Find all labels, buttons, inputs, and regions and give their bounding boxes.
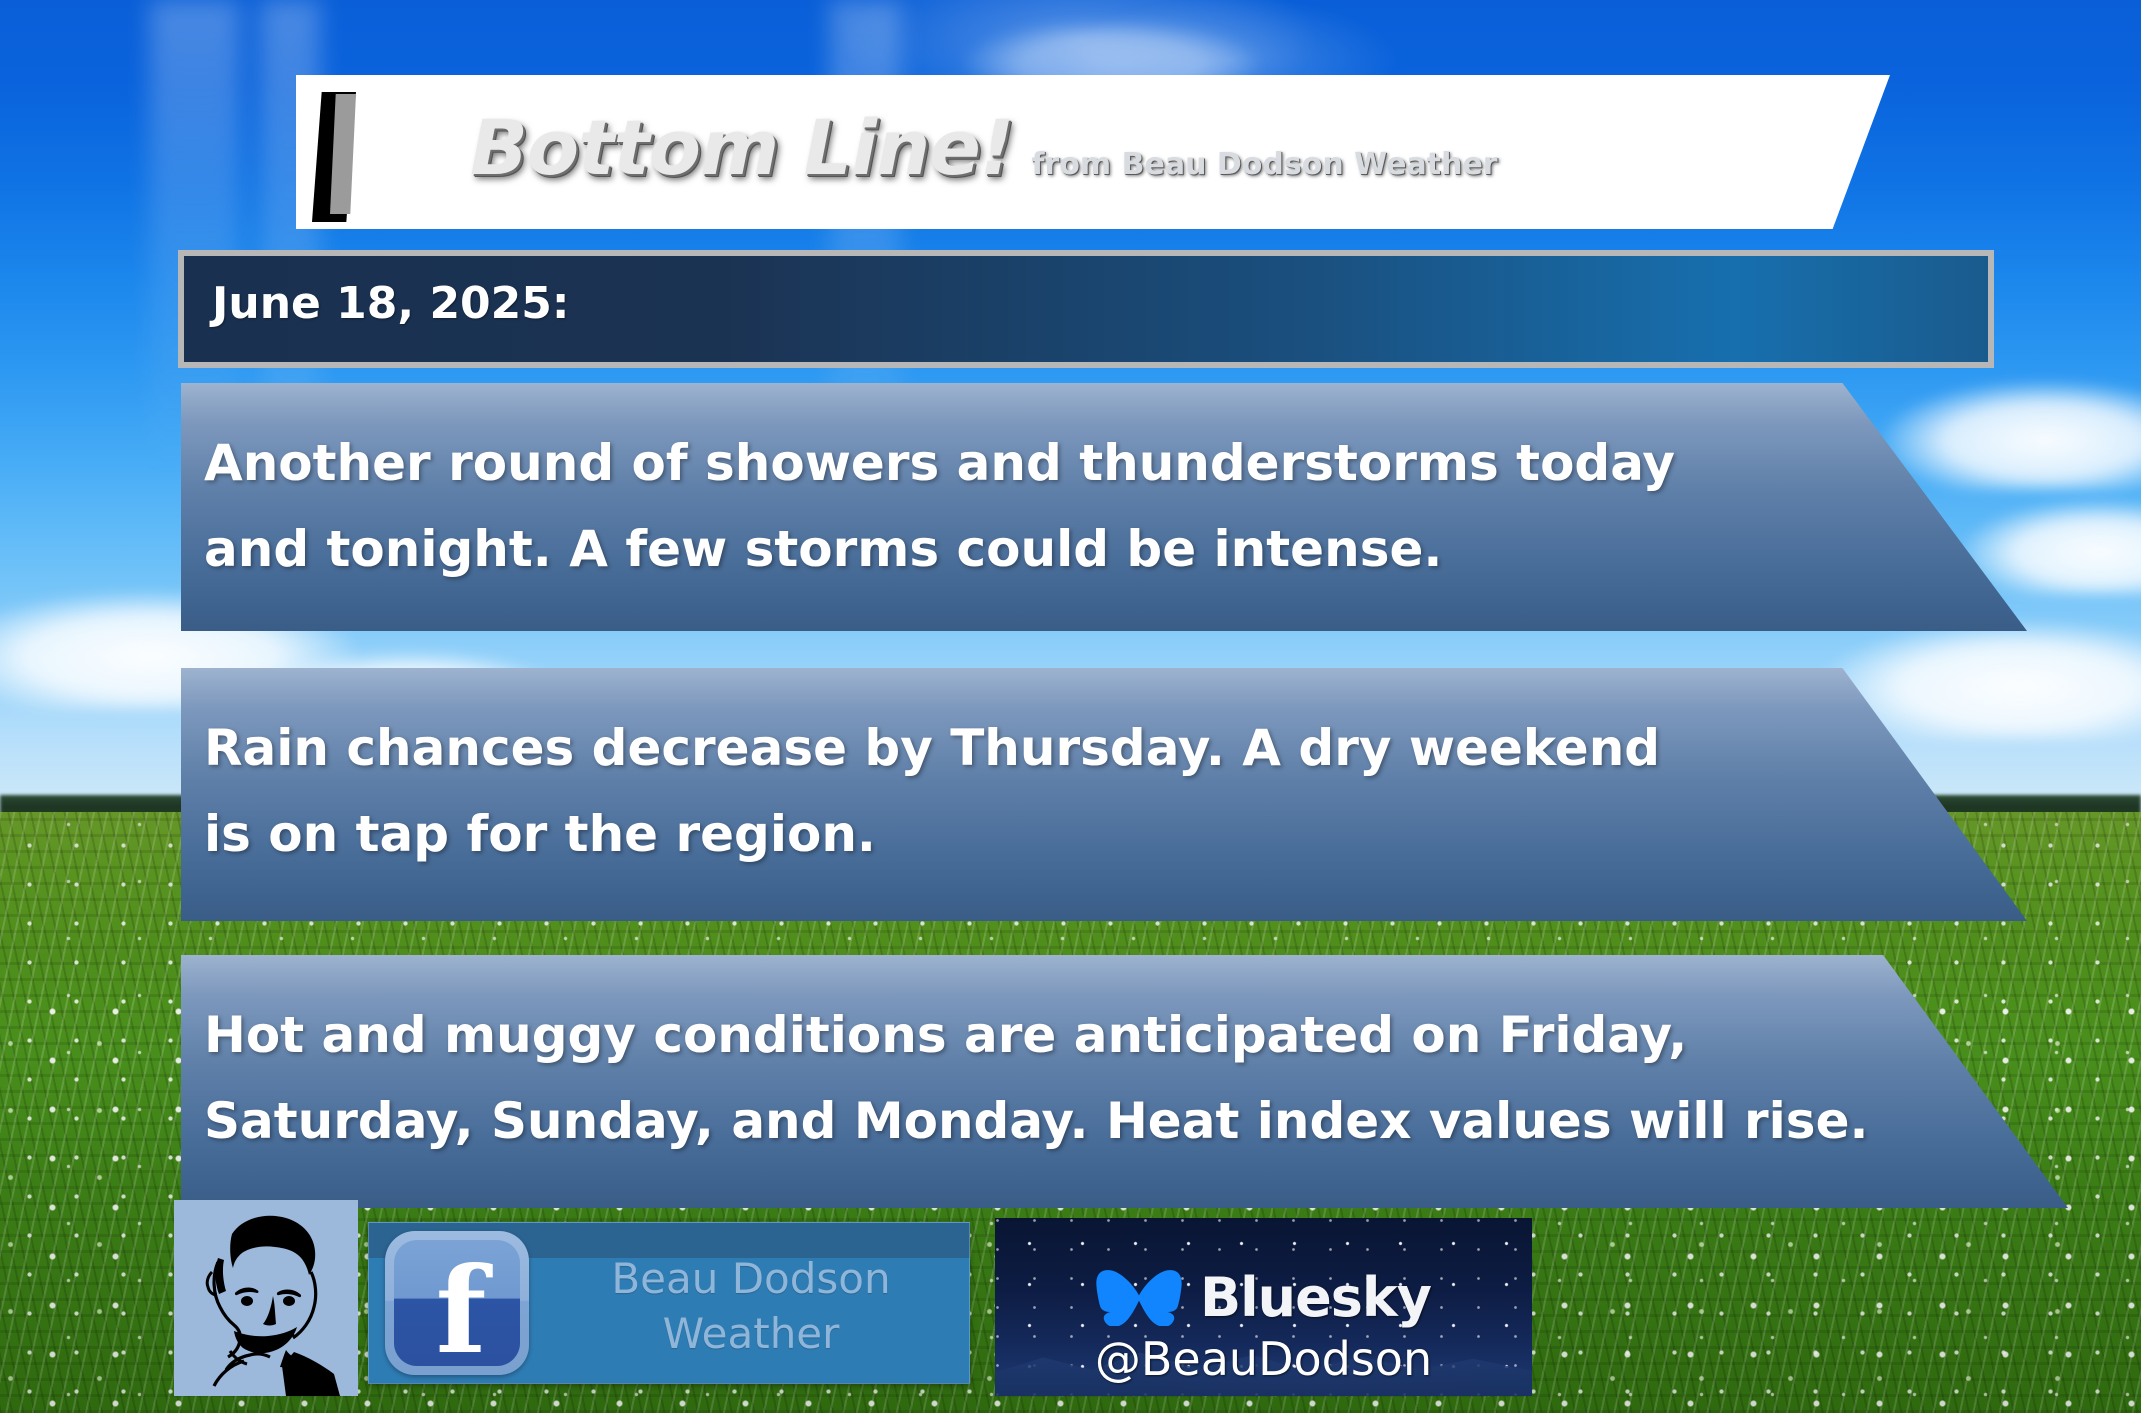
bottom-line-weather-graphic: Bottom Line! from Beau Dodson Weather Ju… <box>0 0 2141 1413</box>
bluesky-badge[interactable]: Bluesky @BeauDodson <box>995 1218 1532 1396</box>
facebook-icon-inner: f <box>394 1240 520 1366</box>
message-text-3: Hot and muggy conditions are anticipated… <box>204 992 1944 1164</box>
portrait-icon <box>174 1200 358 1396</box>
header-subtitle: from Beau Dodson Weather <box>1031 150 1497 180</box>
bluesky-name: Bluesky <box>1200 1271 1431 1325</box>
date-label: June 18, 2025: <box>212 278 570 329</box>
avatar <box>174 1200 358 1396</box>
bluesky-handle: @BeauDodson <box>995 1336 1532 1382</box>
facebook-icon[interactable]: f <box>385 1231 529 1375</box>
facebook-label: Beau Dodson Weather <box>541 1251 961 1361</box>
bluesky-butterfly-icon <box>1096 1270 1182 1326</box>
header-text: Bottom Line! from Beau Dodson Weather <box>470 110 1770 220</box>
bluesky-logo-row: Bluesky <box>995 1270 1532 1326</box>
facebook-f-glyph: f <box>436 1256 487 1366</box>
message-text-2: Rain chances decrease by Thursday. A dry… <box>204 705 1824 877</box>
message-text-1: Another round of showers and thunderstor… <box>204 420 1824 592</box>
page-title: Bottom Line! <box>470 110 1013 186</box>
